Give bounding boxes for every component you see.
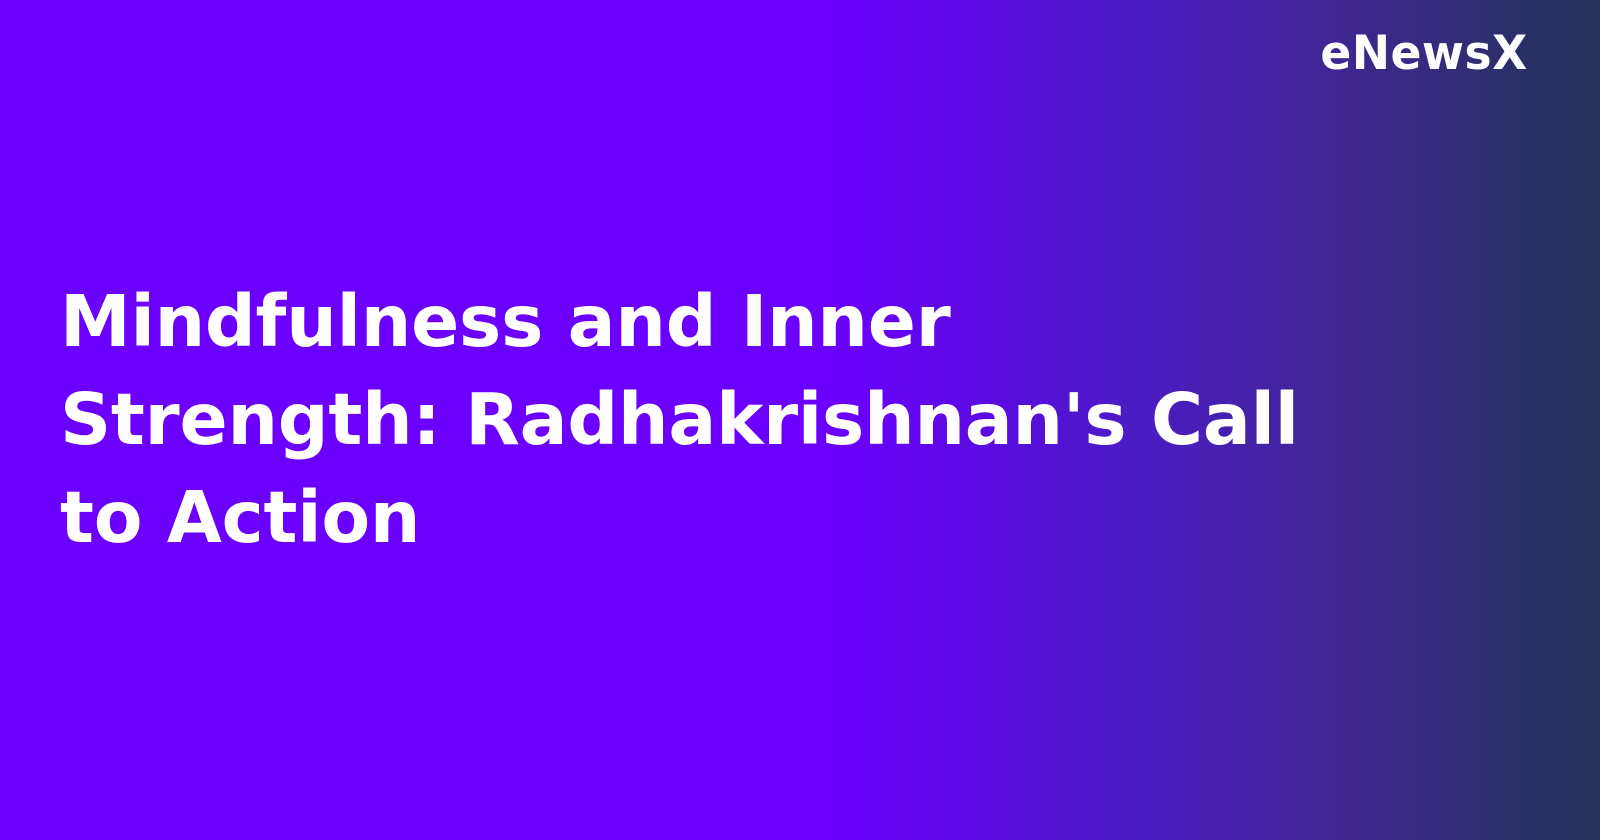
article-headline: Mindfulness and Inner Strength: Radhakri… <box>60 273 1350 567</box>
headline-container: Mindfulness and Inner Strength: Radhakri… <box>60 0 1380 840</box>
article-banner: eNewsX Mindfulness and Inner Strength: R… <box>0 0 1600 840</box>
